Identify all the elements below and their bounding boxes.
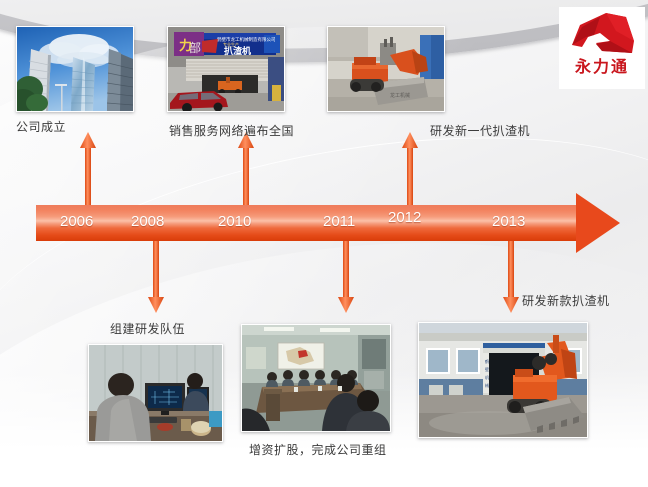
svg-text:壁: 壁 [485, 366, 489, 372]
caption-rd-team: 组建研发队伍 [110, 320, 185, 337]
svg-text:械: 械 [485, 382, 489, 388]
caption-new-model: 研发新款扒渣机 [522, 292, 610, 309]
photo-rd-team [88, 344, 223, 442]
company-logo: 永力通 [559, 7, 645, 89]
connector-arrow-up-2012 [402, 132, 418, 210]
caption-company-founded: 公司成立 [16, 118, 66, 135]
timeline-year-2006[interactable]: 2006 [60, 213, 93, 230]
timeline-arrow-head [576, 193, 620, 253]
caption-new-generation: 研发新一代扒渣机 [430, 122, 530, 139]
photo-new-generation-machine: 龙工机械 [327, 26, 445, 112]
logo-text: 永力通 [559, 59, 645, 75]
timeline-year-2010[interactable]: 2010 [218, 213, 251, 230]
caption-sales-network: 销售服务网络遍布全国 [169, 122, 294, 139]
photo-new-model-machine: 鹤 壁 机 械 [418, 322, 588, 438]
svg-text:扒渣机: 扒渣机 [224, 45, 251, 57]
svg-text:机: 机 [485, 374, 489, 380]
svg-text:部: 部 [189, 40, 201, 55]
svg-text:鹤: 鹤 [485, 358, 489, 364]
connector-arrow-up-2010 [238, 132, 254, 210]
timeline-year-2008[interactable]: 2008 [131, 213, 164, 230]
slide-canvas: 永力通 [0, 0, 648, 487]
timeline-year-2012[interactable]: 2012 [388, 209, 421, 226]
connector-arrow-down-2008 [148, 241, 164, 313]
photo-meeting [241, 324, 391, 432]
caption-capital-increase: 增资扩股，完成公司重组 [249, 441, 387, 458]
svg-text:龙工机械: 龙工机械 [390, 92, 410, 99]
logo-mark-icon [566, 11, 638, 57]
timeline-year-2013[interactable]: 2013 [492, 213, 525, 230]
photo-company-building [16, 26, 134, 112]
connector-arrow-down-2013 [503, 241, 519, 313]
timeline-year-2011[interactable]: 2011 [323, 213, 355, 230]
photo-sales-store: 力 部 鹤壁市龙工机械制造有限公司 专业生产 扒渣机 [167, 26, 285, 112]
connector-arrow-down-2011 [338, 241, 354, 313]
connector-arrow-up-2006 [80, 132, 96, 210]
